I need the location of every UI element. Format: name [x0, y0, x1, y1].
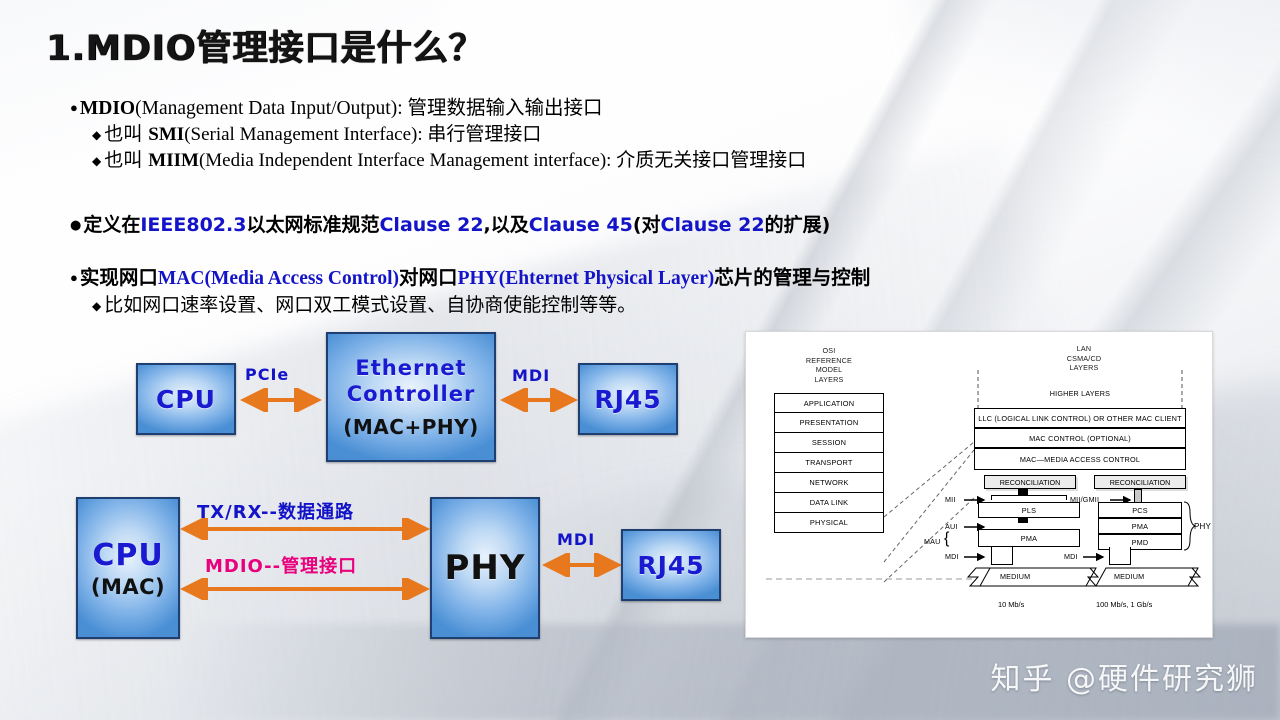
bullet-examples-cn: 比如网口速率设置、网口双工模式设置、自协商使能控制等等。 — [104, 294, 636, 316]
arrow-label-pcie: PCIe — [245, 365, 289, 384]
bullet-mdio-cn: 管理数据输入输出接口 — [408, 96, 603, 119]
osi-layer-stack: APPLICATION PRESENTATION SESSION TRANSPO… — [774, 393, 884, 533]
bullet-mac-phy-p2: 对网口 — [399, 266, 458, 289]
bullet-examples: 比如网口速率设置、网口双工模式设置、自协商使能控制等等。 — [70, 293, 636, 319]
osi-mii-label: MII — [945, 495, 956, 504]
osi-pma-box-right: PMA — [1098, 518, 1182, 534]
osi-mdi-label-right: MDI — [1064, 552, 1078, 561]
osi-medium-right: MEDIUM — [1114, 572, 1144, 581]
node-rj45-row1-label: RJ45 — [594, 385, 661, 414]
node-cpu-row1-label: CPU — [156, 385, 216, 414]
osi-head-r1: LAN — [1014, 344, 1154, 354]
osi-head-l4: LAYERS — [774, 375, 884, 385]
bullet-clause-ieee: IEEE802.3 — [140, 214, 246, 236]
osi-miigmii-label: MII/GMII — [1070, 495, 1099, 504]
bullet-mac-phy: 实现网口MAC(Media Access Control)对网口PHY(Ehte… — [70, 265, 870, 292]
osi-mdi-connector-left — [991, 547, 1013, 565]
arrow-txrx — [178, 518, 432, 540]
osi-layer-session: SESSION — [774, 433, 884, 453]
bullet-clause-p4: (对 — [633, 214, 661, 236]
bullet-smi-paren: (Serial Management Interface): — [184, 124, 427, 145]
bullet-miim-paren: (Media Independent Interface Management … — [199, 150, 616, 171]
osi-mdi-arrow-right — [1083, 551, 1109, 563]
osi-mac-box: MAC—MEDIA ACCESS CONTROL — [974, 448, 1186, 470]
osi-connector-aui — [1018, 518, 1028, 523]
bullet-phy-term: PHY(Ehternet Physical Layer) — [458, 268, 715, 289]
arrow-mdi-row2 — [540, 553, 624, 577]
arrow-pcie — [236, 388, 326, 412]
arrow-label-mdi-row2: MDI — [557, 530, 595, 549]
bullet-smi-lead: 也叫 — [104, 123, 148, 145]
osi-pma-box-left: PMA — [978, 529, 1080, 547]
osi-mdi-arrow-left — [964, 551, 990, 563]
osi-mau-label: MAU — [924, 537, 941, 546]
osi-head-l1: OSI — [774, 346, 884, 356]
bullet-clause-22: Clause 22 — [379, 214, 483, 236]
osi-medium-left: MEDIUM — [1000, 572, 1030, 581]
page-title: 1.MDIO管理接口是什么？ — [46, 20, 484, 71]
bullet-mdio: MDIO(Management Data Input/Output): 管理数据… — [70, 95, 603, 122]
osi-head-r2: CSMA/CD — [1014, 354, 1154, 364]
bullet-mdio-paren: (Management Data Input/Output): — [135, 98, 407, 119]
osi-layer-application: APPLICATION — [774, 393, 884, 413]
bullet-smi-term: SMI — [148, 124, 184, 145]
node-cpu-row2: CPU (MAC) — [76, 497, 180, 639]
osi-speed-left: 10 Mb/s — [998, 600, 1024, 609]
node-cpu-row2-label: CPU — [92, 538, 163, 573]
node-cpu-row1: CPU — [136, 363, 236, 435]
osi-mdi-connector-right — [1109, 547, 1131, 565]
bullet-smi-cn: 串行管理接口 — [427, 123, 541, 145]
osi-head-l2: REFERENCE — [774, 356, 884, 366]
arrow-label-mdio: MDIO--管理接口 — [205, 552, 357, 578]
arrow-mdio — [178, 578, 432, 600]
bullet-smi: 也叫 SMI(Serial Management Interface): 串行管… — [70, 122, 541, 148]
arrow-mdi-row1 — [498, 388, 580, 412]
bullet-mac-phy-p3: 芯片的管理与控制 — [714, 266, 870, 289]
bullet-mac-term: MAC(Media Access Control) — [158, 268, 399, 289]
osi-head-l3: MODEL — [774, 365, 884, 375]
node-rj45-row2-label: RJ45 — [637, 551, 704, 580]
node-phy: PHY — [430, 497, 540, 639]
watermark: 知乎 @硬件研究狮 — [990, 654, 1258, 698]
bullet-clause-p5: 的扩展) — [765, 214, 831, 236]
osi-phy-label: PHY — [1194, 522, 1211, 531]
osi-pcs-box: PCS — [1098, 502, 1182, 518]
bullet-clause: 定义在IEEE802.3以太网标准规范Clause 22,以及Clause 45… — [70, 210, 830, 237]
osi-connector-gmii — [1134, 489, 1142, 503]
osi-layer-physical: PHYSICAL — [774, 513, 884, 533]
bullet-miim-cn: 介质无关接口管理接口 — [616, 149, 806, 171]
osi-layer-datalink: DATA LINK — [774, 493, 884, 513]
osi-pls-box: PLS — [978, 502, 1080, 518]
bullet-clause-p2: 以太网标准规范 — [246, 214, 379, 236]
osi-layer-transport: TRANSPORT — [774, 453, 884, 473]
arrow-label-mdi-row1: MDI — [512, 366, 550, 385]
bullet-mdio-term: MDIO — [80, 98, 135, 119]
node-rj45-row2: RJ45 — [621, 529, 721, 601]
osi-higher-layers: HIGHER LAYERS — [978, 389, 1182, 398]
osi-mau-brace-icon: { — [944, 530, 950, 548]
node-rj45-row1: RJ45 — [578, 363, 678, 435]
osi-medium-right-shape — [1082, 564, 1212, 596]
node-phy-label: PHY — [445, 548, 526, 588]
osi-llc-box: LLC (LOGICAL LINK CONTROL) OR OTHER MAC … — [974, 408, 1186, 428]
bullet-clause-22b: Clause 22 — [661, 214, 765, 236]
osi-mii-bus — [991, 495, 1067, 500]
bullet-clause-p3: ,以及 — [484, 214, 529, 236]
background-corner-gradient — [901, 0, 1280, 238]
node-cpu-row2-sub: (MAC) — [91, 575, 165, 599]
bullet-miim: 也叫 MIIM(Media Independent Interface Mana… — [70, 148, 806, 174]
osi-mdi-label-left: MDI — [945, 552, 959, 561]
osi-speed-right: 100 Mb/s, 1 Gb/s — [1096, 600, 1152, 609]
node-controller-line2: Controller — [347, 381, 476, 407]
osi-layer-presentation: PRESENTATION — [774, 413, 884, 433]
bullet-clause-p1: 定义在 — [83, 214, 140, 236]
node-controller-line1: Ethernet — [355, 355, 466, 381]
osi-head-r3: LAYERS — [1014, 363, 1154, 373]
bullet-miim-term: MIIM — [148, 150, 199, 171]
bullet-clause-45: Clause 45 — [529, 214, 633, 236]
osi-reconciliation-left: RECONCILIATION — [984, 475, 1076, 489]
osi-reconciliation-right: RECONCILIATION — [1094, 475, 1186, 489]
osi-mac-control-box: MAC CONTROL (OPTIONAL) — [974, 428, 1186, 448]
node-ethernet-controller: Ethernet Controller (MAC+PHY) — [326, 332, 496, 462]
osi-reference-figure: OSI REFERENCE MODEL LAYERS LAN CSMA/CD L… — [745, 331, 1213, 638]
bullet-mac-phy-p1: 实现网口 — [80, 266, 158, 289]
osi-layer-network: NETWORK — [774, 473, 884, 493]
node-controller-sub: (MAC+PHY) — [343, 415, 478, 439]
bullet-miim-lead: 也叫 — [104, 149, 148, 171]
slide-canvas: 1.MDIO管理接口是什么？ MDIO(Management Data Inpu… — [0, 0, 1280, 720]
